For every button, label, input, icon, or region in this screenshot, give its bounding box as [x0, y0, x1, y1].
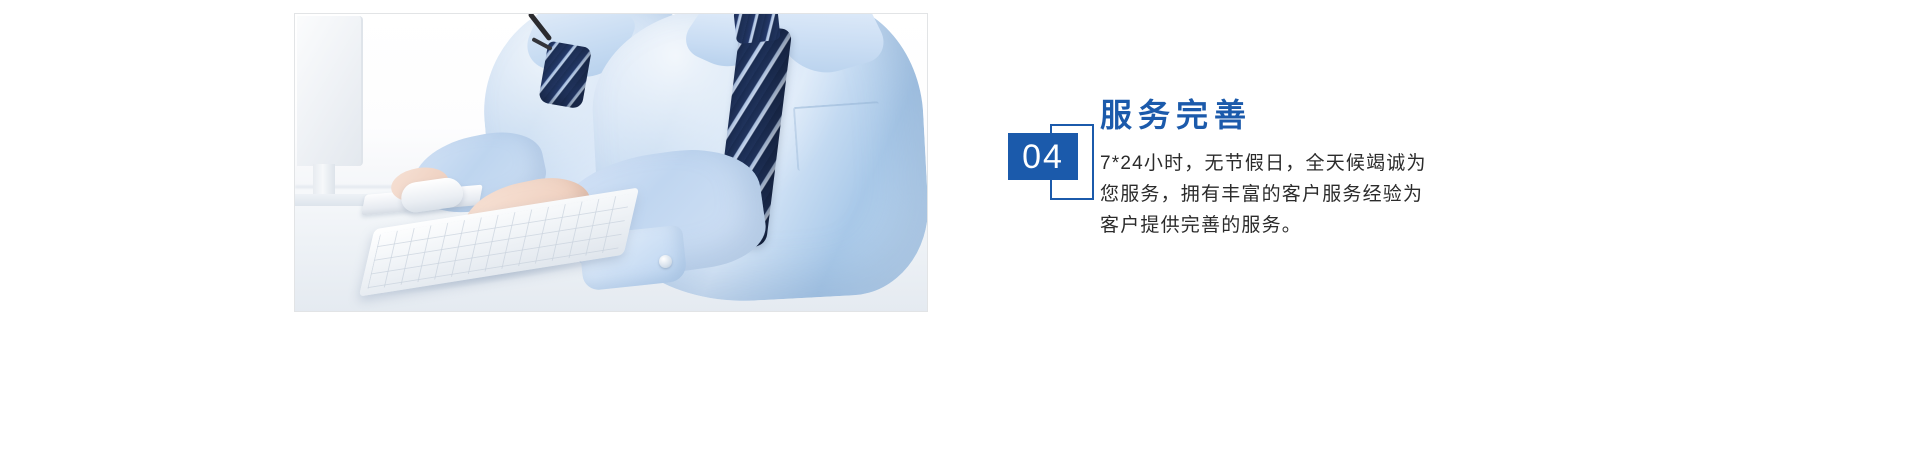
front-person-tie-knot — [733, 14, 780, 44]
monitor-stand-neck — [313, 164, 335, 198]
description-line: 您服务，拥有丰富的客户服务经验为 — [1100, 179, 1520, 210]
feature-text-column: 服务完善 7*24小时，无节假日，全天候竭诚为 您服务，拥有丰富的客户服务经验为… — [1100, 96, 1520, 241]
description-line: 7*24小时，无节假日，全天候竭诚为 — [1100, 148, 1520, 179]
feature-number-badge: 04 — [1008, 96, 1098, 206]
photo-scene — [295, 14, 927, 311]
feature-title: 服务完善 — [1100, 96, 1520, 134]
monitor-stand-base — [295, 194, 369, 206]
front-person-shirt-pocket — [793, 101, 883, 171]
badge-filled-square: 04 — [1008, 133, 1078, 180]
feature-photo — [294, 13, 928, 312]
page-root: 04 服务完善 7*24小时，无节假日，全天候竭诚为 您服务，拥有丰富的客户服务… — [0, 0, 1920, 452]
description-line: 客户提供完善的服务。 — [1100, 210, 1520, 241]
monitor-icon — [297, 16, 363, 166]
feature-description: 7*24小时，无节假日，全天候竭诚为 您服务，拥有丰富的客户服务经验为 客户提供… — [1100, 148, 1520, 241]
cuff-button — [659, 255, 672, 268]
badge-number-label: 04 — [1022, 140, 1064, 174]
